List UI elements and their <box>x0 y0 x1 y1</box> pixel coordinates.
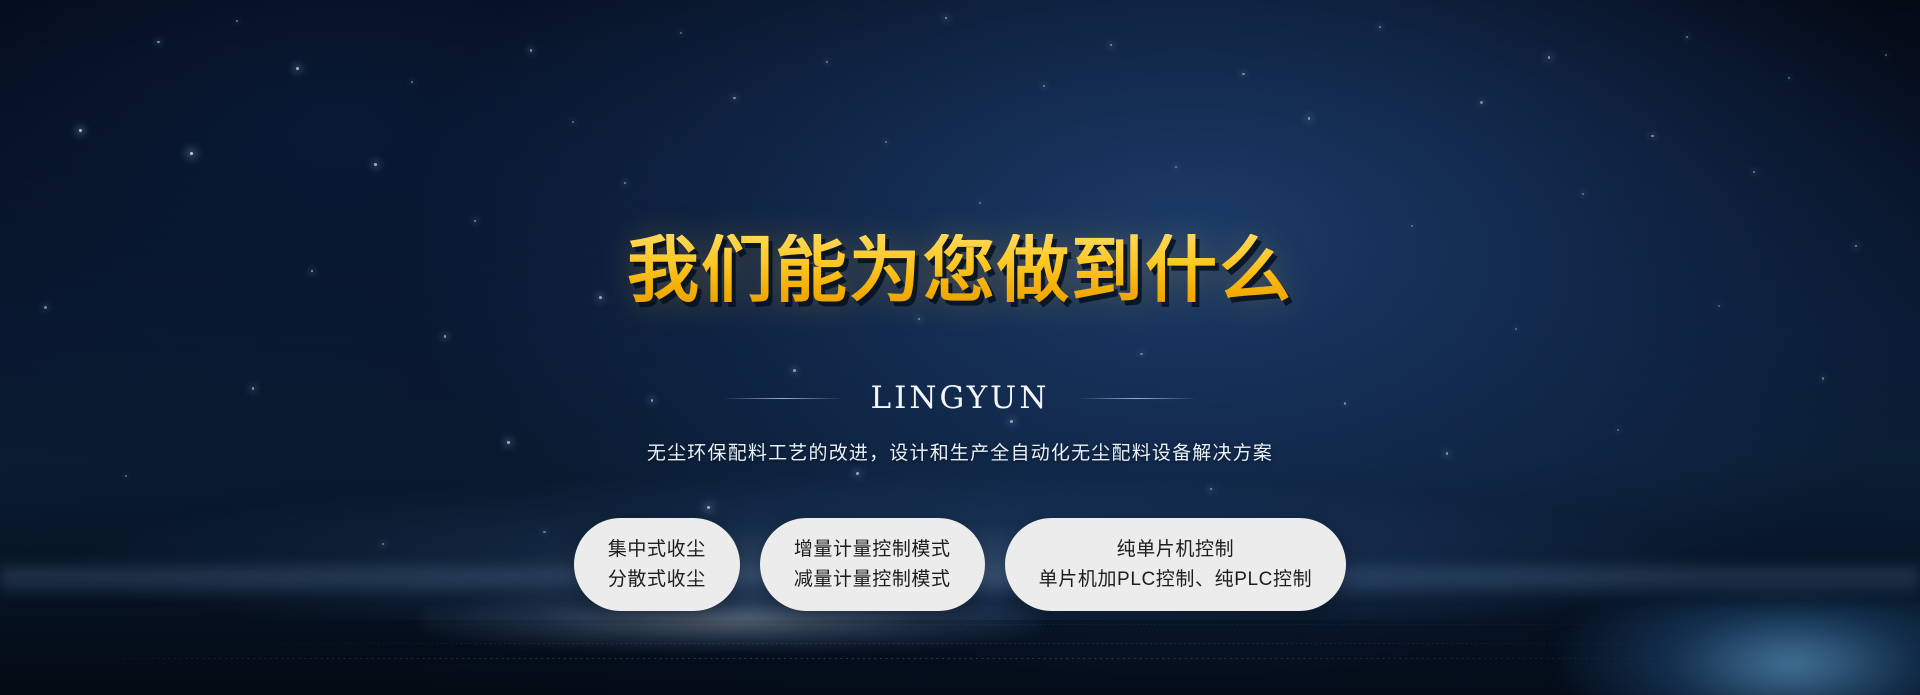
banner-content: 我们能为您做到什么 LINGYUN 无尘环保配料工艺的改进，设计和生产全自动化无… <box>0 0 1920 695</box>
feature-pill[interactable]: 集中式收尘 分散式收尘 <box>574 518 740 611</box>
rule-right-decoration <box>1077 398 1197 399</box>
feature-pill[interactable]: 增量计量控制模式 减量计量控制模式 <box>760 518 985 611</box>
feature-pill-group: 集中式收尘 分散式收尘 增量计量控制模式 减量计量控制模式 纯单片机控制 单片机… <box>574 518 1346 611</box>
pill-line: 纯单片机控制 <box>1117 539 1235 561</box>
pill-line: 集中式收尘 <box>608 539 706 561</box>
feature-pill[interactable]: 纯单片机控制 单片机加PLC控制、纯PLC控制 <box>1005 518 1347 611</box>
pill-line: 减量计量控制模式 <box>794 569 951 591</box>
banner-subtitle-en: LINGYUN <box>871 380 1050 416</box>
banner-description: 无尘环保配料工艺的改进，设计和生产全自动化无尘配料设备解决方案 <box>647 438 1273 465</box>
pill-line: 分散式收尘 <box>608 569 706 591</box>
subtitle-row: LINGYUN <box>723 380 1198 416</box>
banner-headline: 我们能为您做到什么 <box>627 234 1293 306</box>
pill-line: 单片机加PLC控制、纯PLC控制 <box>1039 569 1313 591</box>
rule-left-decoration <box>723 398 843 399</box>
pill-line: 增量计量控制模式 <box>794 539 951 561</box>
hero-banner: 我们能为您做到什么 LINGYUN 无尘环保配料工艺的改进，设计和生产全自动化无… <box>0 0 1920 695</box>
